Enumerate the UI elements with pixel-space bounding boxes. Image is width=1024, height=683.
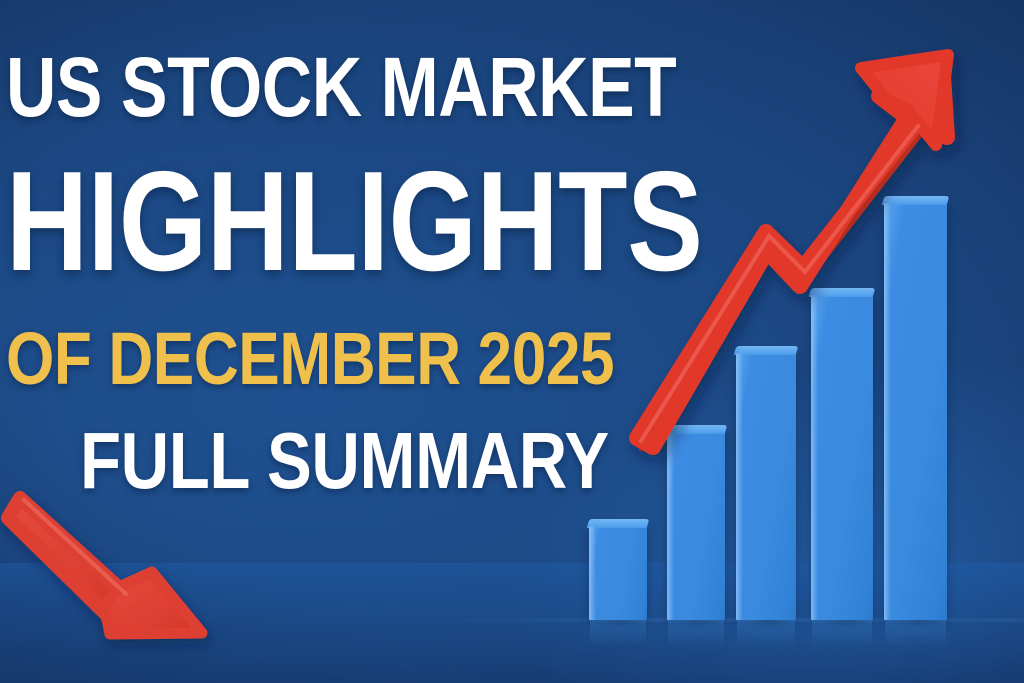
headline-line-4: FULL SUMMARY: [80, 422, 609, 500]
bar-1-top-face: [587, 519, 650, 528]
bar-2: [667, 432, 725, 620]
stock-market-highlights-poster: US STOCK MARKET HIGHLIGHTS OF DECEMBER 2…: [0, 0, 1024, 683]
bar-4-reflection: [812, 620, 872, 646]
bar-5-highlight: [884, 203, 891, 620]
bar-4-highlight: [811, 295, 818, 620]
bar-1: [589, 526, 647, 620]
bar-3-reflection: [737, 620, 795, 646]
bar-1-highlight: [589, 526, 596, 620]
bar-3-highlight: [736, 353, 743, 620]
bar-3: [736, 353, 796, 620]
bar-2-face: [667, 432, 725, 620]
bar-2-reflection: [668, 620, 724, 646]
bar-2-top-face: [665, 425, 728, 434]
bar-3-top-face: [734, 346, 799, 355]
bar-1-reflection: [590, 620, 646, 646]
bar-5-reflection: [885, 620, 946, 646]
bar-5: [884, 203, 947, 620]
bar-5-face: [884, 203, 947, 620]
bar-4: [811, 295, 873, 620]
bar-1-face: [589, 526, 647, 620]
headline-line-3-accent: OF DECEMBER 2025: [6, 323, 614, 396]
bar-2-highlight: [667, 432, 674, 620]
headline-line-2: HIGHLIGHTS: [6, 152, 703, 291]
bar-4-top-face: [809, 288, 876, 297]
bar-5-top-face: [882, 196, 950, 205]
bar-3-face: [736, 353, 796, 620]
headline-line-1: US STOCK MARKET: [6, 46, 676, 128]
bar-4-face: [811, 295, 873, 620]
